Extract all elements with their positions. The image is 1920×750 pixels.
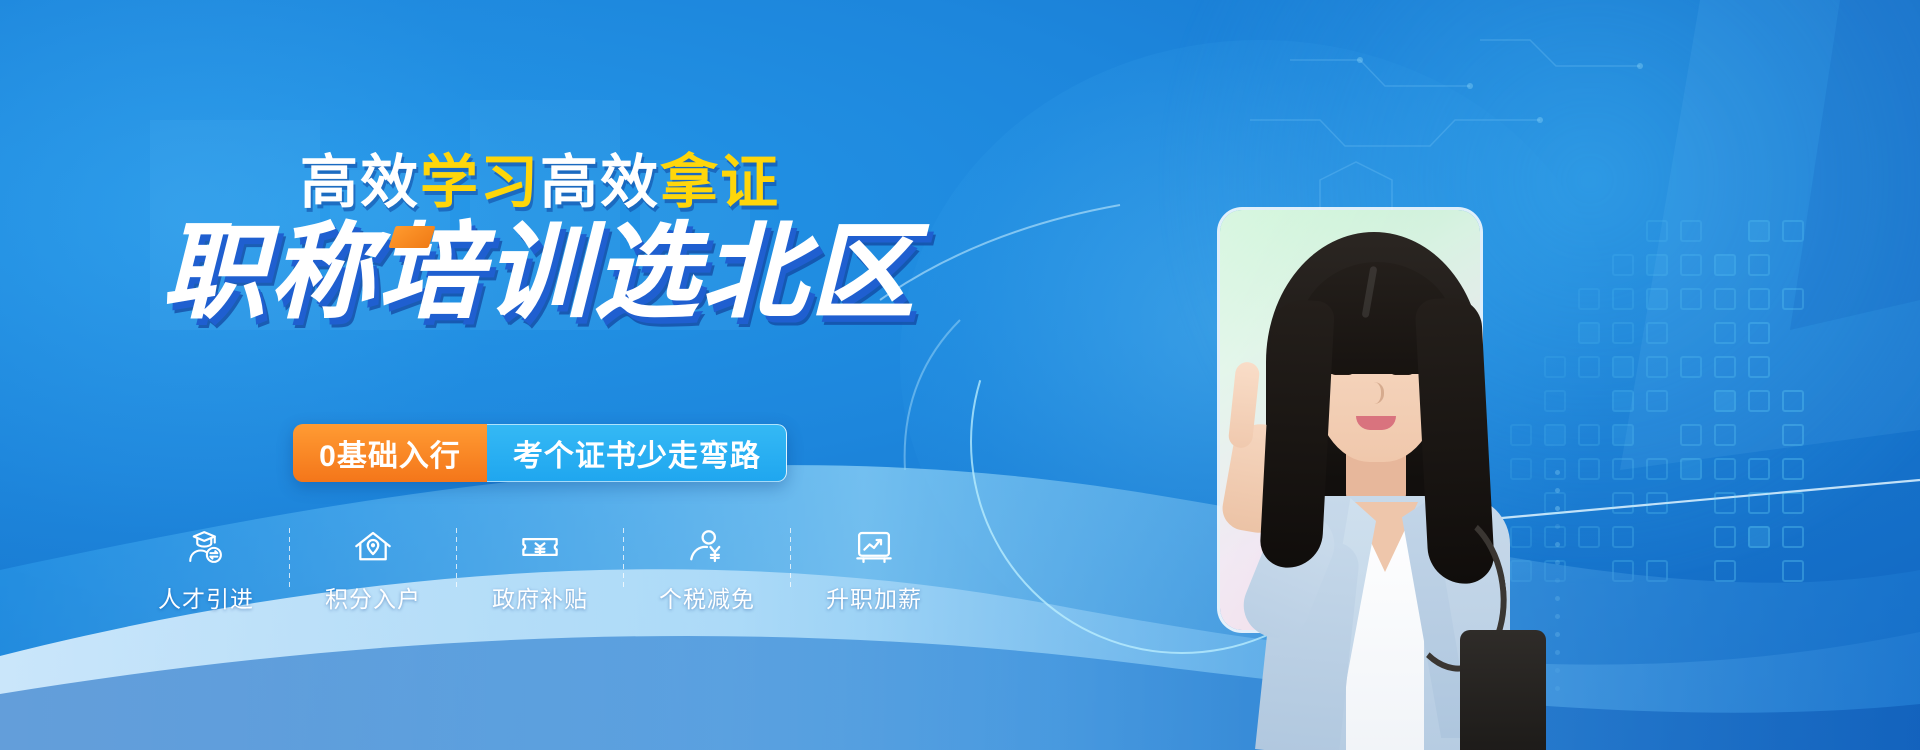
feature-divider xyxy=(456,528,457,590)
feature-divider xyxy=(289,528,290,590)
feature-item-tax-reduction[interactable]: 个税减免 xyxy=(640,524,774,614)
chart-board-icon xyxy=(853,524,895,570)
sub-headline-segment-4: 拿证 xyxy=(660,150,780,215)
feature-item-points-residency[interactable]: 积分入户 xyxy=(306,524,440,614)
main-headline: 职称培训选北区 xyxy=(0,218,1080,328)
feature-list: 人才引进 积分入户 xyxy=(0,524,1080,614)
model-composition xyxy=(1100,190,1660,750)
presenter-figure xyxy=(1170,210,1590,750)
sub-headline-segment-2: 学习 xyxy=(420,150,540,215)
feature-label: 政府补贴 xyxy=(492,580,588,614)
feature-label: 人才引进 xyxy=(158,580,254,614)
coupon-ticket-icon xyxy=(519,524,561,570)
copy-block: 高效学习高效拿证 职称培训选北区 0基础入行 考个证书少走弯路 xyxy=(0,0,1080,750)
feature-label: 个税减免 xyxy=(659,580,755,614)
feature-divider xyxy=(790,528,791,590)
orange-accent-slash-icon xyxy=(388,226,435,248)
tagline-badge: 0基础入行 考个证书少走弯路 xyxy=(0,424,1080,482)
house-pin-icon xyxy=(352,524,394,570)
graduate-person-icon xyxy=(185,524,227,570)
feature-item-promotion-raise[interactable]: 升职加薪 xyxy=(807,524,941,614)
feature-label: 积分入户 xyxy=(325,580,421,614)
tagline-pill[interactable]: 0基础入行 考个证书少走弯路 xyxy=(293,424,787,482)
feature-item-government-subsidy[interactable]: 政府补贴 xyxy=(473,524,607,614)
main-headline-text: 职称培训选北区 xyxy=(162,218,918,328)
tagline-badge-right[interactable]: 考个证书少走弯路 xyxy=(487,424,787,482)
sub-headline-segment-1: 高效 xyxy=(300,150,420,215)
sub-headline-segment-3: 高效 xyxy=(540,150,660,215)
shoulder-bag xyxy=(1460,630,1546,750)
person-yuan-icon xyxy=(686,524,728,570)
feature-label: 升职加薪 xyxy=(826,580,922,614)
sub-headline: 高效学习高效拿证 xyxy=(0,152,1080,214)
feature-divider xyxy=(623,528,624,590)
promo-banner: 高效学习高效拿证 职称培训选北区 0基础入行 考个证书少走弯路 xyxy=(0,0,1920,750)
tagline-badge-left[interactable]: 0基础入行 xyxy=(293,424,487,482)
feature-item-talent-introduction[interactable]: 人才引进 xyxy=(139,524,273,614)
